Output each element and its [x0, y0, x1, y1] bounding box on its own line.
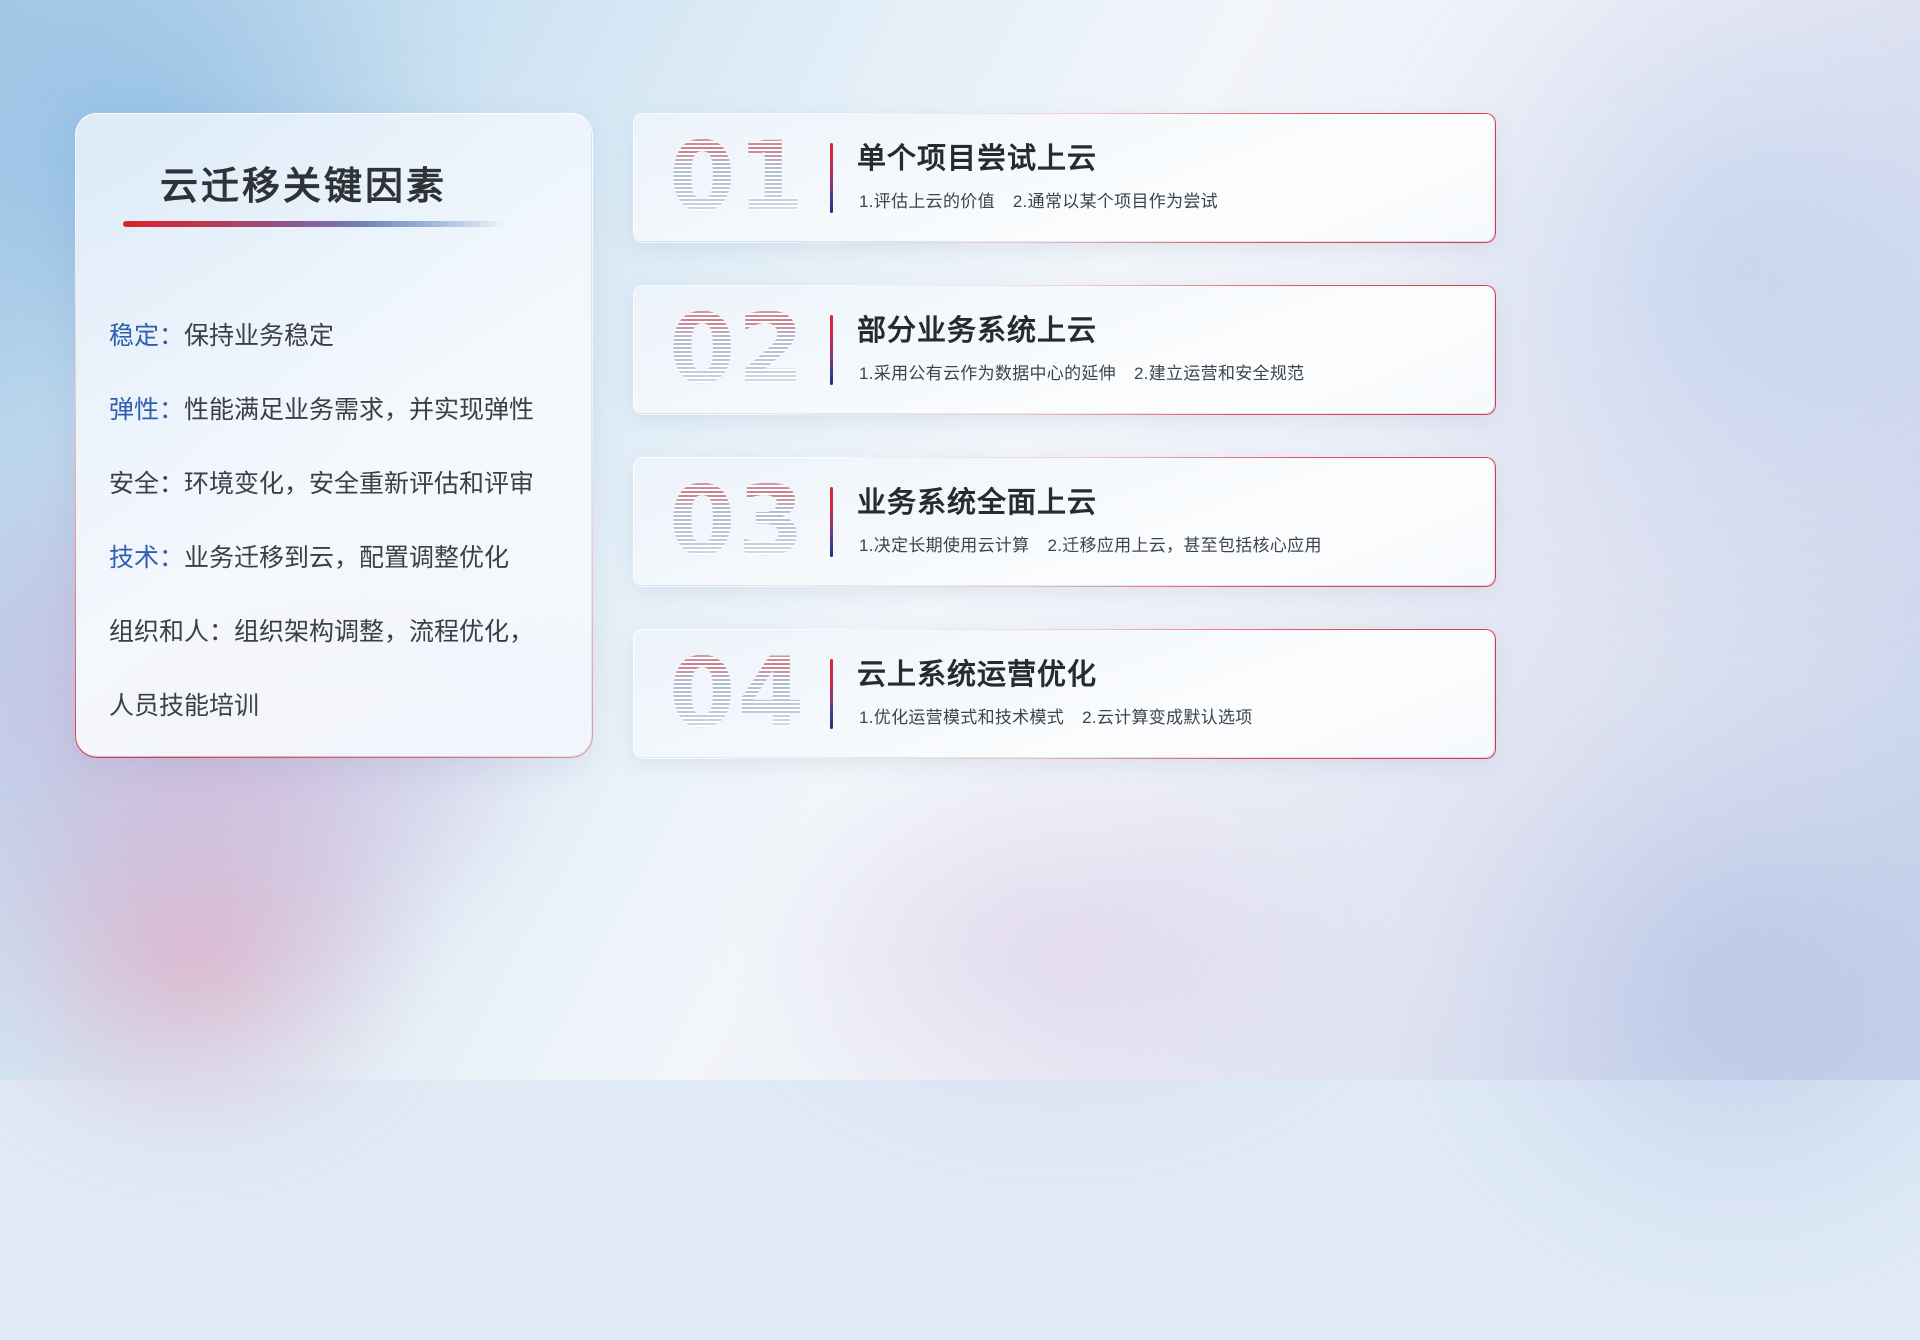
stage-card-01[interactable]: 01 01 单个项目尝试上云 1.评估上云的价值2.通常以某个项目作为尝试: [633, 113, 1494, 241]
list-item-text: 环境变化，安全重新评估和评审: [184, 470, 534, 498]
list-item: 稳定：保持业务稳定: [109, 299, 573, 373]
stage-point-2: 2.云计算变成默认选项: [1082, 708, 1252, 727]
list-item-text: 保持业务稳定: [184, 322, 334, 350]
stage-point-2: 2.建立运营和安全规范: [1134, 364, 1304, 383]
stage-title: 业务系统全面上云: [857, 479, 1097, 521]
stage-card-02[interactable]: 02 02 部分业务系统上云 1.采用公有云作为数据中心的延伸2.建立运营和安全…: [633, 285, 1494, 413]
stage-point-1: 1.决定长期使用云计算: [859, 536, 1029, 555]
stage-description: 1.采用公有云作为数据中心的延伸2.建立运营和安全规范: [859, 359, 1304, 384]
stage-point-2: 2.迁移应用上云，甚至包括核心应用: [1047, 536, 1321, 555]
stage-point-1: 1.评估上云的价值: [859, 192, 995, 211]
stage-point-2: 2.通常以某个项目作为尝试: [1013, 192, 1218, 211]
stage-point-1: 1.采用公有云作为数据中心的延伸: [859, 364, 1116, 383]
stage-point-1: 1.优化运营模式和技术模式: [859, 708, 1064, 727]
list-item-key: 技术：: [109, 544, 184, 572]
key-factors-list: 稳定：保持业务稳定 弹性：性能满足业务需求，并实现弹性 安全：环境变化，安全重新…: [109, 299, 573, 743]
list-item-text: 性能满足业务需求，并实现弹性: [184, 396, 534, 424]
stage-number-01: 01: [655, 119, 820, 235]
stage-title: 云上系统运营优化: [857, 651, 1097, 693]
list-item-key: 安全：: [109, 470, 184, 498]
slide-stage: 云迁移关键因素 稳定：保持业务稳定 弹性：性能满足业务需求，并实现弹性 安全：环…: [0, 0, 1920, 1080]
list-item: 弹性：性能满足业务需求，并实现弹性: [109, 373, 573, 447]
list-item-text: 业务迁移到云，配置调整优化: [184, 544, 509, 572]
list-item-text: 人员技能培训: [109, 692, 259, 720]
list-item: 安全：环境变化，安全重新评估和评审: [109, 447, 573, 521]
stage-description: 1.决定长期使用云计算2.迁移应用上云，甚至包括核心应用: [859, 531, 1322, 556]
list-item-key: 稳定：: [109, 322, 184, 350]
list-item: 组织和人：组织架构调整，流程优化，: [109, 595, 573, 669]
stage-divider-bar: [830, 315, 833, 385]
list-item-text: 组织架构调整，流程优化，: [234, 618, 534, 646]
stage-card-03[interactable]: 03 03 业务系统全面上云 1.决定长期使用云计算2.迁移应用上云，甚至包括核…: [633, 457, 1494, 585]
stage-divider-bar: [830, 487, 833, 557]
stage-description: 1.评估上云的价值2.通常以某个项目作为尝试: [859, 187, 1218, 212]
stage-title: 单个项目尝试上云: [857, 135, 1097, 177]
stage-description: 1.优化运营模式和技术模式2.云计算变成默认选项: [859, 703, 1253, 728]
stage-card-04[interactable]: 04 04 云上系统运营优化 1.优化运营模式和技术模式2.云计算变成默认选项: [633, 629, 1494, 757]
stage-divider-bar: [830, 143, 833, 213]
page-title: 云迁移关键因素: [160, 155, 447, 210]
stage-number-02: 02: [655, 291, 820, 407]
list-item-key: 弹性：: [109, 396, 184, 424]
list-item-key: 组织和人：: [109, 618, 234, 646]
list-item: 技术：业务迁移到云，配置调整优化: [109, 521, 573, 595]
title-underline-accent: [123, 221, 507, 227]
key-factors-panel: 云迁移关键因素 稳定：保持业务稳定 弹性：性能满足业务需求，并实现弹性 安全：环…: [75, 113, 591, 756]
list-item: 人员技能培训: [109, 669, 573, 743]
stage-divider-bar: [830, 659, 833, 729]
stage-title: 部分业务系统上云: [857, 307, 1097, 349]
stage-number-03: 03: [655, 463, 820, 579]
stage-number-04: 04: [655, 635, 820, 751]
